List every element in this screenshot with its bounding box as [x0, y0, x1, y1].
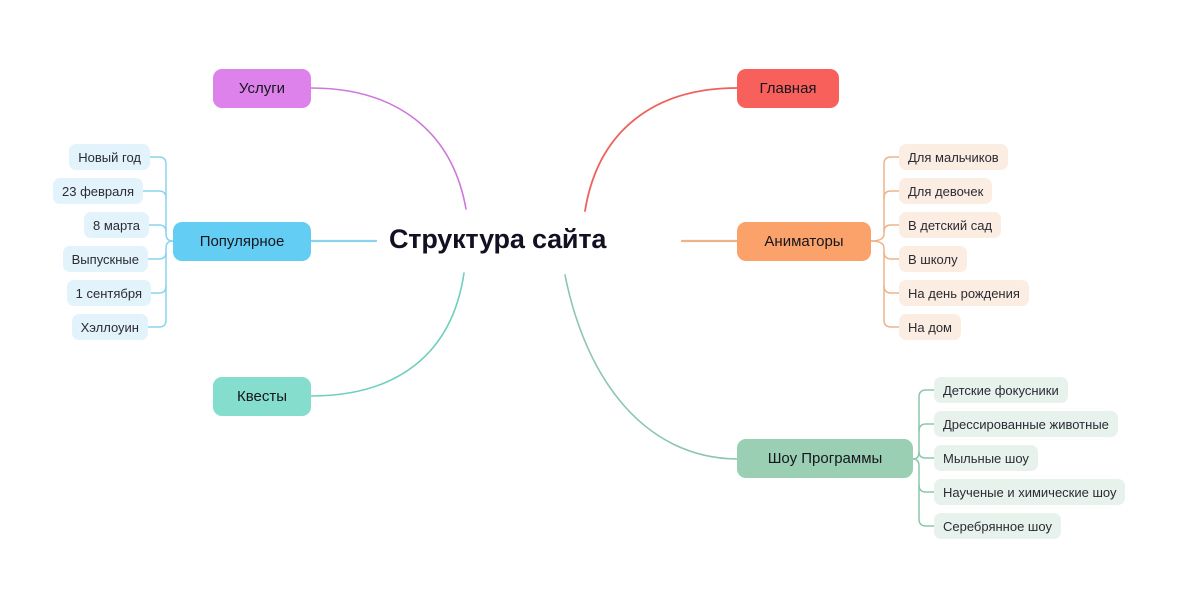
edge-populyarnoe-child-4: [151, 286, 166, 293]
leaf-animatory-v-shkolu[interactable]: В школу: [899, 246, 967, 272]
edge-center-shou: [565, 275, 737, 459]
leaf-shou-serebryannoe-shou[interactable]: Серебрянное шоу: [934, 513, 1061, 539]
edge-center-glavnaya: [585, 88, 737, 211]
edge-center-uslugi: [311, 88, 466, 209]
leaf-shou-nauchnye-i-khimicheskie-shou[interactable]: Наученые и химические шоу: [934, 479, 1125, 505]
leaf-populyarnoe-8-marta[interactable]: 8 марта: [84, 212, 149, 238]
leaf-populyarnoe-novyy-god[interactable]: Новый год: [69, 144, 150, 170]
branch-node-animatory[interactable]: Аниматоры: [737, 222, 871, 261]
page-title: Структура сайта: [389, 224, 606, 255]
edge-animatory-child-4: [884, 286, 899, 293]
edge-animatory-child-1: [884, 191, 899, 198]
leaf-populyarnoe-vypusknye[interactable]: Выпускные: [63, 246, 148, 272]
edge-shou-child-2: [919, 452, 934, 458]
leaf-populyarnoe-1-sentyabrya[interactable]: 1 сентября: [67, 280, 151, 306]
leaf-animatory-dlya-devochek[interactable]: Для девочек: [899, 178, 992, 204]
branch-node-shou-programmy[interactable]: Шоу Программы: [737, 439, 913, 478]
leaf-animatory-v-detskiy-sad[interactable]: В детский сад: [899, 212, 1001, 238]
edge-shou-child-3: [919, 485, 934, 492]
edge-animatory-child-0: [871, 157, 899, 241]
branch-node-uslugi[interactable]: Услуги: [213, 69, 311, 108]
edge-populyarnoe-child-5: [148, 241, 173, 327]
leaf-animatory-dlya-malchikov[interactable]: Для мальчиков: [899, 144, 1008, 170]
leaf-shou-detskie-fokusniki[interactable]: Детские фокусники: [934, 377, 1068, 403]
edge-shou-child-4: [913, 459, 934, 526]
leaf-animatory-na-dom[interactable]: На дом: [899, 314, 961, 340]
leaf-populyarnoe-khellouin[interactable]: Хэллоуин: [72, 314, 148, 340]
edge-shou-child-1: [919, 424, 934, 431]
branch-node-populyarnoe[interactable]: Популярное: [173, 222, 311, 261]
leaf-populyarnoe-23-fevralya[interactable]: 23 февраля: [53, 178, 143, 204]
leaf-shou-dressirovannye-zhivotnye[interactable]: Дрессированные животные: [934, 411, 1118, 437]
edge-populyarnoe-child-0: [150, 157, 173, 241]
edge-populyarnoe-child-2: [149, 225, 166, 232]
edge-populyarnoe-child-1: [143, 191, 166, 198]
edge-animatory-child-5: [871, 241, 899, 327]
edge-populyarnoe-child-3: [148, 252, 166, 259]
branch-node-glavnaya[interactable]: Главная: [737, 69, 839, 108]
leaf-animatory-na-den-rozhdeniya[interactable]: На день рождения: [899, 280, 1029, 306]
edge-animatory-child-2: [884, 225, 899, 232]
mindmap-canvas: Структура сайта Услуги Популярное Квесты…: [0, 0, 1188, 589]
edge-animatory-child-3: [884, 252, 899, 259]
leaf-shou-mylnye-shou[interactable]: Мыльные шоу: [934, 445, 1038, 471]
branch-node-kvesty[interactable]: Квесты: [213, 377, 311, 416]
edge-center-kvesty: [311, 273, 464, 396]
edge-shou-child-0: [913, 390, 934, 459]
